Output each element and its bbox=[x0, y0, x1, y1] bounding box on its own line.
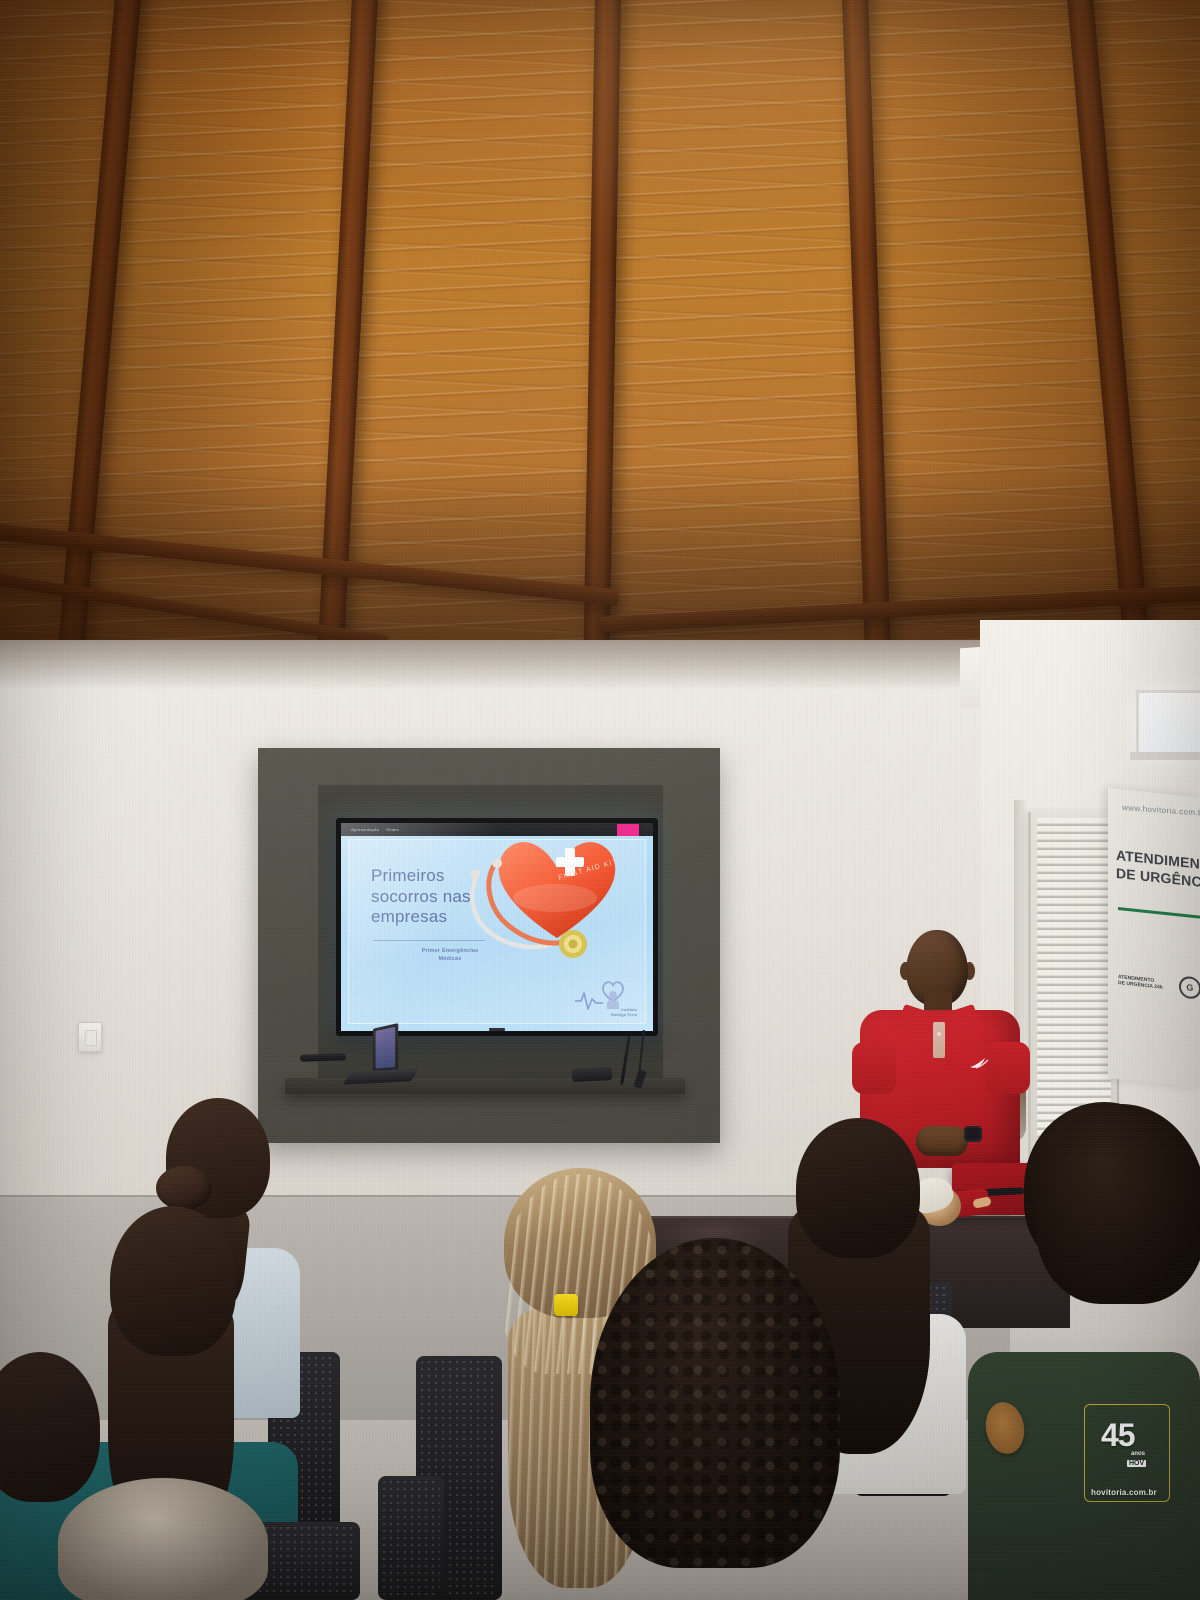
audience-hair bbox=[110, 1206, 236, 1356]
audience-member bbox=[560, 1238, 860, 1600]
banner-url: www.hovitoria.com.br bbox=[1122, 803, 1200, 818]
presenter-sleeve-right bbox=[986, 1042, 1030, 1094]
audience-member bbox=[1036, 1104, 1200, 1324]
badge-number: 45 bbox=[1101, 1419, 1135, 1451]
toolbar-accent-block bbox=[617, 824, 639, 836]
presenter-placket bbox=[933, 1022, 945, 1058]
photo-scene: Apresentação Slides Primeiros socorros n… bbox=[0, 0, 1200, 1600]
audience-hair bbox=[1036, 1104, 1200, 1304]
banner-logo-row: ATENDIMENTO DE URGÊNCIA 24h G bbox=[1118, 969, 1200, 1000]
laptop[interactable] bbox=[352, 1026, 414, 1088]
presenter-chest-logo-icon bbox=[968, 1056, 992, 1070]
wall-banner: www.hovitoria.com.br ATENDIMENTO DE URGÊ… bbox=[1108, 788, 1200, 1088]
badge-website: hovitoria.com.br bbox=[1091, 1488, 1157, 1497]
window-light bbox=[1136, 690, 1200, 760]
banner-rule bbox=[1118, 907, 1200, 919]
slide-brand-logo: Instituto Rodrigo Terra bbox=[573, 973, 639, 1017]
wooden-ceiling bbox=[0, 0, 1200, 665]
audience-hair bbox=[58, 1478, 268, 1600]
audience-hair-bun bbox=[156, 1166, 212, 1210]
app-toolbar-left-label: Apresentação bbox=[351, 827, 379, 832]
badge-hov-label: HOV bbox=[1127, 1460, 1146, 1467]
laptop-screen bbox=[373, 1023, 398, 1073]
laptop-keyboard[interactable] bbox=[342, 1068, 419, 1084]
tv-screen: Apresentação Slides Primeiros socorros n… bbox=[341, 823, 653, 1031]
slide-brand-text: Instituto Rodrigo Terra bbox=[611, 1007, 637, 1017]
banner-logo-left: ATENDIMENTO DE URGÊNCIA 24h bbox=[1118, 974, 1163, 991]
banner-logo-right: G bbox=[1179, 975, 1200, 999]
audience-hair-curls bbox=[590, 1238, 840, 1568]
stethoscope-graphic bbox=[461, 858, 611, 978]
banner-logo-left-line2: DE URGÊNCIA 24h bbox=[1118, 980, 1163, 991]
app-toolbar-right-label: Slides bbox=[386, 827, 399, 832]
app-toolbar[interactable]: Apresentação Slides bbox=[341, 823, 653, 836]
anniversary-badge: 45 anos HOV hovitoria.com.br bbox=[1084, 1404, 1170, 1502]
audience-member bbox=[58, 1478, 268, 1600]
badge-anos-label: anos bbox=[1131, 1451, 1145, 1458]
chair-mesh bbox=[382, 1480, 440, 1596]
banner-headline: ATENDIMENTO DE URGÊNCIA bbox=[1116, 847, 1200, 893]
slide-brand-line2: Rodrigo Terra bbox=[611, 1012, 637, 1017]
tv-brand-mark bbox=[489, 1028, 505, 1031]
chair[interactable] bbox=[378, 1476, 444, 1600]
presentation-display[interactable]: Apresentação Slides Primeiros socorros n… bbox=[336, 818, 658, 1036]
window-sill bbox=[1130, 752, 1200, 760]
presenter-sleeve-left bbox=[852, 1042, 896, 1094]
wall-light-switch[interactable] bbox=[78, 1022, 102, 1052]
audience-hair bbox=[796, 1118, 920, 1258]
slide-canvas: Primeiros socorros nas empresas Primer E… bbox=[348, 839, 646, 1024]
